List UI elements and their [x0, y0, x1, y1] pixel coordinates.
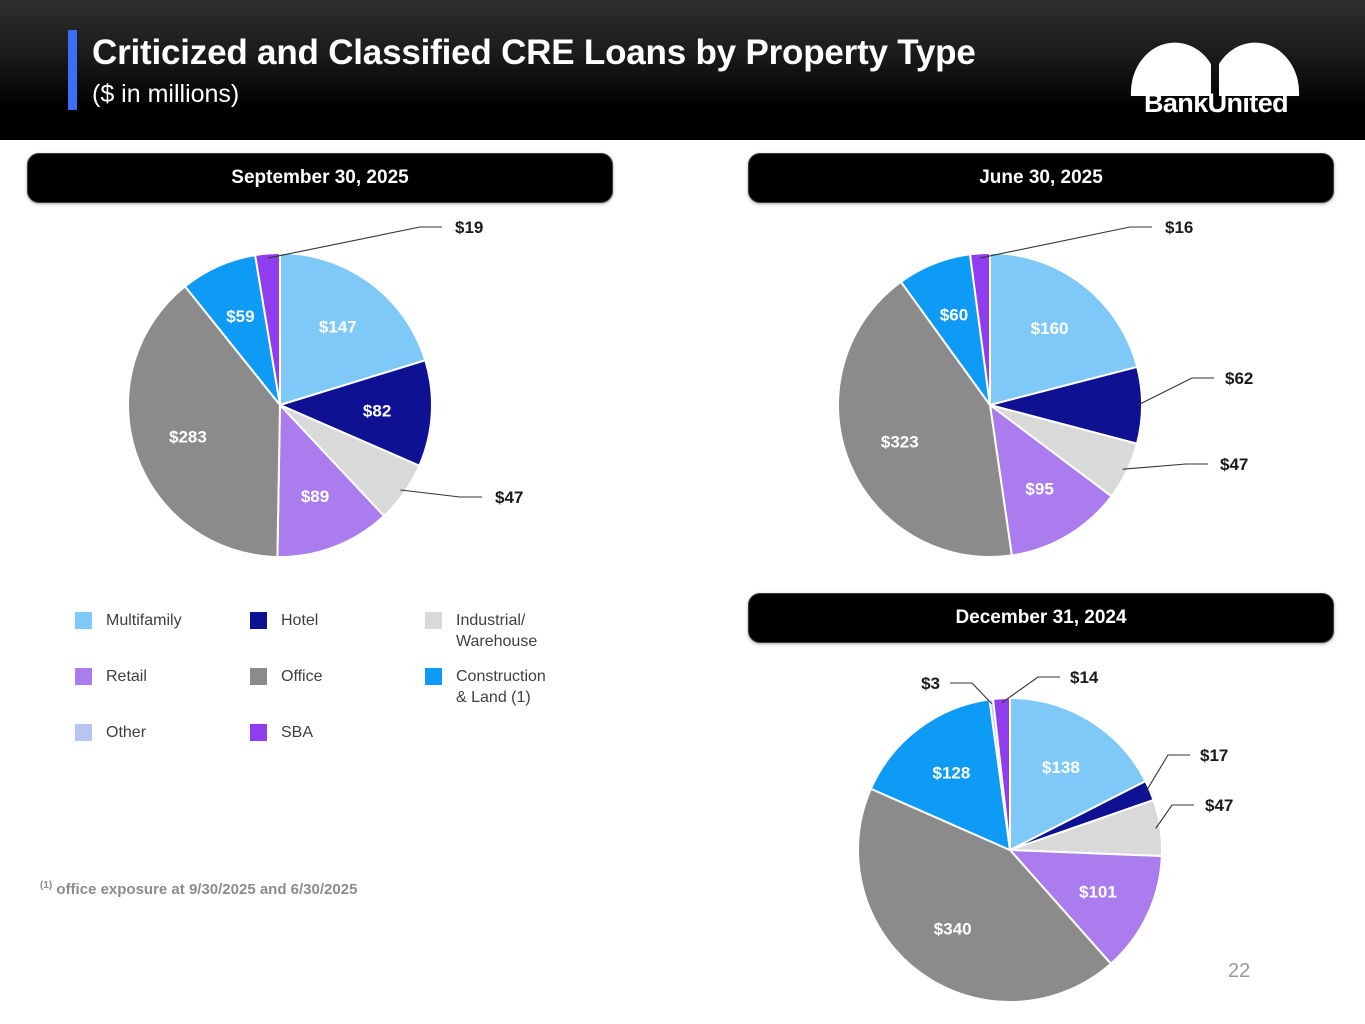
- pie-label-other: $3: [921, 674, 940, 693]
- pie-label-hotel: $82: [363, 402, 391, 421]
- legend-item-other[interactable]: Other: [75, 722, 250, 743]
- slide-header-band: Criticized and Classified CRE Loans by P…: [0, 0, 1365, 140]
- legend-swatch-retail: [75, 668, 92, 685]
- pie-label-sba: $14: [1070, 668, 1099, 687]
- pie-label-retail: $89: [301, 487, 329, 506]
- pie-leader-hotel: [1137, 378, 1214, 405]
- title-accent-bar: [68, 30, 77, 110]
- legend-label-construction-land: Construction & Land (1): [456, 666, 546, 708]
- legend-swatch-construction-land: [425, 668, 442, 685]
- legend-swatch-multifamily: [75, 612, 92, 629]
- legend-label-office: Office: [281, 666, 323, 687]
- legend-label-hotel: Hotel: [281, 610, 318, 631]
- footnote-text: office exposure at 9/30/2025 and 6/30/20…: [52, 881, 357, 898]
- legend-swatch-hotel: [250, 612, 267, 629]
- legend-swatch-industrial-warehouse: [425, 612, 442, 629]
- pie-label-industrial-warehouse: $47: [1205, 796, 1233, 815]
- pie-label-industrial-warehouse: $47: [1220, 455, 1248, 474]
- chart-legend: Multifamily Hotel Industrial/ Warehouse …: [75, 610, 635, 760]
- legend-swatch-office: [250, 668, 267, 685]
- legend-item-office[interactable]: Office: [250, 666, 425, 687]
- chart-title-q4-2024: December 31, 2024: [748, 593, 1334, 643]
- chart-title-q2-2025: June 30, 2025: [748, 153, 1334, 203]
- page-subtitle: ($ in millions): [92, 80, 239, 109]
- legend-label-retail: Retail: [106, 666, 147, 687]
- legend-swatch-sba: [250, 724, 267, 741]
- pie-label-hotel: $17: [1200, 746, 1228, 765]
- pie-label-sba: $19: [455, 218, 483, 237]
- pie-label-hotel: $62: [1225, 369, 1253, 388]
- chart-title-q3-2025: September 30, 2025: [27, 153, 613, 203]
- pie-chart-q3-2025: $147$82$47$89$283$59$19: [100, 205, 570, 575]
- legend-label-industrial-warehouse: Industrial/ Warehouse: [456, 610, 537, 652]
- pie-leader-hotel: [1146, 755, 1190, 792]
- pie-label-office: $323: [881, 433, 919, 452]
- page-title: Criticized and Classified CRE Loans by P…: [92, 33, 976, 73]
- pie-label-office: $340: [934, 920, 972, 939]
- pie-label-sba: $16: [1165, 218, 1193, 237]
- footnote: (1) office exposure at 9/30/2025 and 6/3…: [40, 880, 357, 898]
- pie-label-retail: $95: [1025, 480, 1053, 499]
- legend-item-hotel[interactable]: Hotel: [250, 610, 425, 631]
- pie-chart-q2-2025: $160$62$47$95$323$60$16: [820, 205, 1290, 575]
- legend-label-sba: SBA: [281, 722, 313, 743]
- pie-label-retail: $101: [1079, 883, 1117, 902]
- pie-label-multifamily: $147: [319, 318, 357, 337]
- pie-label-office: $283: [169, 427, 207, 446]
- pie-label-industrial-warehouse: $47: [495, 488, 523, 507]
- legend-swatch-other: [75, 724, 92, 741]
- legend-item-industrial-warehouse[interactable]: Industrial/ Warehouse: [425, 610, 625, 652]
- page-number: 22: [1228, 960, 1250, 983]
- pie-label-construction-land: $59: [226, 307, 254, 326]
- footnote-marker: (1): [40, 880, 52, 891]
- legend-item-retail[interactable]: Retail: [75, 666, 250, 687]
- pie-chart-q4-2024: $138$17$47$101$340$128$3$14: [820, 645, 1290, 1015]
- legend-label-other: Other: [106, 722, 146, 743]
- legend-item-multifamily[interactable]: Multifamily: [75, 610, 250, 631]
- pie-leader-industrial-warehouse: [1123, 464, 1208, 469]
- legend-item-sba[interactable]: SBA: [250, 722, 425, 743]
- pie-label-construction-land: $60: [940, 306, 968, 325]
- pie-label-construction-land: $128: [932, 763, 970, 782]
- logo-wordmark: BankUnited: [1128, 88, 1304, 119]
- pie-label-multifamily: $138: [1042, 758, 1080, 777]
- pie-leader-industrial-warehouse: [1156, 805, 1194, 828]
- legend-label-multifamily: Multifamily: [106, 610, 182, 631]
- legend-item-construction-land[interactable]: Construction & Land (1): [425, 666, 625, 708]
- pie-leader-industrial-warehouse: [401, 490, 483, 497]
- pie-label-multifamily: $160: [1031, 319, 1069, 338]
